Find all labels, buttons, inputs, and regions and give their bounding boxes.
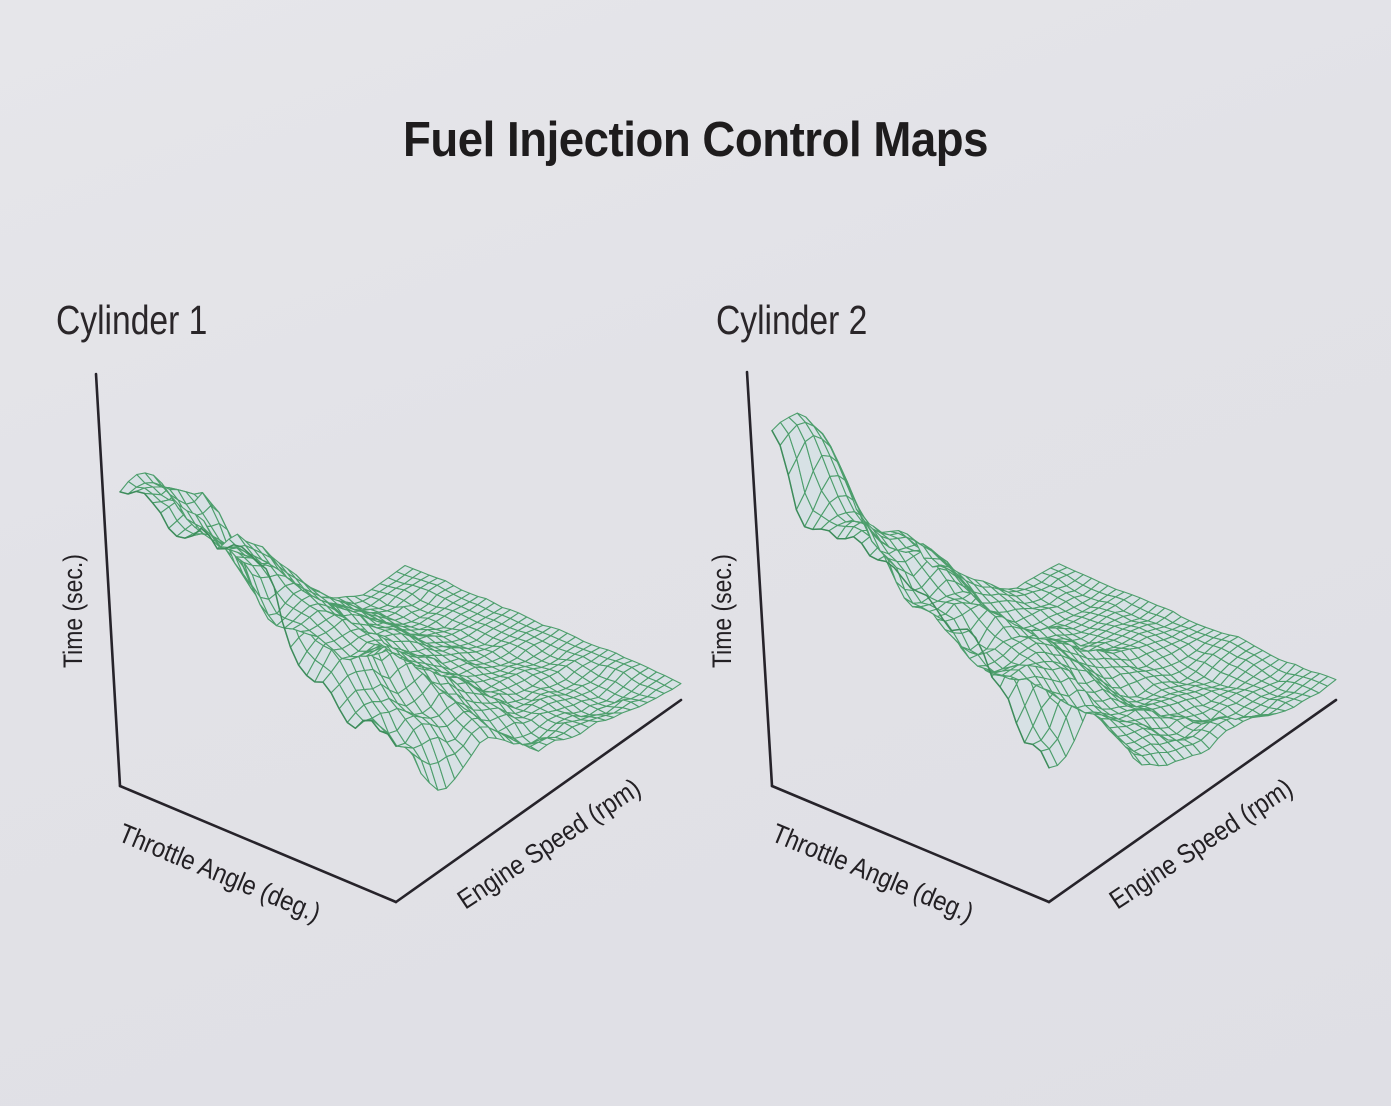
mesh-cell xyxy=(469,605,486,614)
mesh-cell xyxy=(1130,642,1147,648)
mesh-cell xyxy=(1102,713,1119,719)
mesh-cell xyxy=(440,686,457,702)
mesh-cell xyxy=(252,575,268,600)
mesh-cell xyxy=(1040,617,1057,627)
mesh-cell xyxy=(939,558,956,573)
mesh-cell xyxy=(1057,611,1074,619)
mesh-cell xyxy=(886,558,903,567)
mesh-cell xyxy=(1087,671,1104,686)
mesh-cell xyxy=(436,616,453,628)
mesh-cell xyxy=(522,744,539,752)
mesh-cell xyxy=(524,705,541,713)
mesh-cell xyxy=(365,669,382,688)
mesh-cell xyxy=(822,456,839,477)
mesh-cell xyxy=(310,596,327,606)
mesh-cell xyxy=(170,488,187,493)
mesh-cell xyxy=(408,654,425,660)
mesh-cell xyxy=(968,611,985,632)
mesh-cell xyxy=(252,586,269,613)
mesh-cell xyxy=(1252,716,1269,717)
mesh-cell xyxy=(473,713,490,727)
mesh-cell xyxy=(1303,672,1320,680)
mesh-cell xyxy=(343,617,360,626)
mesh-cell xyxy=(590,697,607,703)
mesh-cell xyxy=(136,488,153,494)
mesh-cell xyxy=(327,601,344,607)
mesh-cell xyxy=(1017,589,1034,594)
mesh-cell xyxy=(464,719,481,734)
mesh-cell xyxy=(355,595,372,601)
mesh-cell xyxy=(1057,619,1074,625)
mesh-cell xyxy=(376,632,393,643)
mesh-cell xyxy=(863,523,880,540)
mesh-cell xyxy=(614,708,631,713)
mesh-cell xyxy=(260,602,277,625)
mesh-cell xyxy=(856,506,873,532)
mesh-cell xyxy=(996,617,1013,628)
mesh-cell xyxy=(964,581,981,596)
mesh-cell xyxy=(1128,704,1145,707)
mesh-cell xyxy=(923,549,940,558)
mesh-cell xyxy=(1236,707,1253,717)
mesh-cell xyxy=(484,652,501,662)
mesh-cell xyxy=(375,640,392,652)
mesh-cell xyxy=(996,601,1013,615)
mesh-cell xyxy=(1145,700,1162,705)
mesh-cell xyxy=(992,585,1009,593)
mesh-cell xyxy=(516,680,533,690)
mesh-cell xyxy=(1221,664,1238,675)
mesh-cell xyxy=(1008,588,1025,591)
mesh-cell xyxy=(1129,666,1146,671)
mesh-cell xyxy=(506,736,523,745)
mesh-cell xyxy=(333,626,350,644)
mesh-cell xyxy=(468,640,485,647)
mesh-cell xyxy=(1058,602,1075,612)
mesh-cell xyxy=(1041,749,1058,768)
mesh-cell xyxy=(1069,678,1086,691)
mesh-cell xyxy=(1036,662,1053,670)
mesh-cell xyxy=(372,721,389,733)
mesh-cell xyxy=(1245,686,1262,692)
mesh-cell xyxy=(267,597,284,609)
mesh-cell xyxy=(1278,692,1295,697)
mesh-cell xyxy=(1005,613,1022,623)
mesh-cell xyxy=(307,640,324,660)
mesh-cell xyxy=(422,724,439,740)
mesh-cell xyxy=(359,642,376,651)
mesh-cell xyxy=(438,737,455,756)
mesh-cell xyxy=(1094,706,1111,715)
mesh-cell xyxy=(507,714,523,723)
mesh-cell xyxy=(1145,695,1162,700)
z-axis-label-cylinder-1: Time (sec.) xyxy=(58,554,89,668)
mesh-cell xyxy=(1278,681,1295,691)
mesh-cell xyxy=(389,699,406,712)
mesh-cell xyxy=(437,599,454,609)
mesh-cell xyxy=(1022,614,1039,629)
mesh-cell xyxy=(980,592,997,601)
mesh-cell xyxy=(460,648,477,653)
mesh-cell xyxy=(1062,656,1079,670)
mesh-cell xyxy=(1035,670,1052,685)
mesh-cell xyxy=(311,594,328,601)
mesh-cell xyxy=(952,596,969,611)
mesh-cell xyxy=(855,501,872,535)
mesh-cell xyxy=(1011,654,1028,665)
mesh-cell xyxy=(1038,629,1055,640)
mesh-cell xyxy=(253,566,270,578)
mesh-cell xyxy=(348,630,365,650)
mesh-cell xyxy=(1112,688,1129,698)
mesh-cell xyxy=(1271,659,1288,670)
mesh-cell xyxy=(990,609,1007,618)
mesh-cell xyxy=(1220,687,1237,691)
mesh-cell xyxy=(480,727,497,738)
mesh-cell xyxy=(292,604,309,622)
mesh-cell xyxy=(275,564,292,579)
mesh-cell xyxy=(965,583,982,601)
mesh-cell xyxy=(1007,609,1024,622)
mesh-cell xyxy=(916,542,933,559)
mesh-cell xyxy=(1021,629,1038,638)
mesh-cell xyxy=(464,704,481,713)
mesh-cell xyxy=(1229,667,1246,679)
mesh-cell xyxy=(1086,680,1103,693)
mesh-cell xyxy=(871,529,888,553)
mesh-cell xyxy=(961,637,978,661)
mesh-cell xyxy=(278,568,295,581)
mesh-cell xyxy=(441,670,458,684)
mesh-cell xyxy=(1035,685,1052,694)
mesh-cell xyxy=(772,422,789,445)
mesh-cell xyxy=(972,589,989,599)
mesh-cell xyxy=(1245,677,1262,686)
mesh-cell xyxy=(889,546,906,550)
mesh-cell xyxy=(1261,708,1278,715)
mesh-cell xyxy=(1074,612,1091,617)
mesh-cell xyxy=(235,549,252,586)
mesh-cell xyxy=(952,604,969,625)
mesh-cell xyxy=(1147,629,1164,635)
mesh-cell xyxy=(615,687,632,698)
mesh-cell xyxy=(413,754,430,783)
mesh-cell xyxy=(631,695,648,701)
mesh-cell xyxy=(904,598,921,607)
mesh-cell xyxy=(277,586,294,604)
mesh-cell xyxy=(1080,641,1097,652)
mesh-cell xyxy=(945,621,962,648)
mesh-cell xyxy=(396,584,413,590)
mesh-cell xyxy=(996,609,1013,620)
mesh-cell xyxy=(890,533,907,538)
mesh-cell xyxy=(955,576,972,589)
mesh-cell xyxy=(1081,642,1098,646)
mesh-cell xyxy=(331,660,348,684)
mesh-cell xyxy=(1089,636,1106,643)
mesh-cell xyxy=(1074,595,1091,603)
mesh-cell xyxy=(906,551,923,553)
mesh-cell xyxy=(292,616,309,628)
mesh-cell xyxy=(276,625,293,629)
mesh-cell xyxy=(467,676,484,683)
mesh-cell xyxy=(1031,633,1048,639)
mesh-cell xyxy=(572,724,589,734)
mesh-cell xyxy=(518,626,535,633)
mesh-cell xyxy=(234,545,251,547)
mesh-cell xyxy=(648,681,665,690)
mesh-cell xyxy=(506,735,523,743)
mesh-cell xyxy=(872,532,889,547)
mesh-cell xyxy=(380,586,397,594)
mesh-cell xyxy=(1146,676,1163,684)
mesh-cell xyxy=(493,647,510,658)
mesh-cell xyxy=(806,422,823,439)
mesh-cell xyxy=(364,720,381,723)
mesh-cell xyxy=(949,567,966,583)
mesh-cell xyxy=(402,631,419,640)
mesh-cell xyxy=(1028,663,1045,668)
mesh-cell xyxy=(420,591,437,604)
mesh-cell xyxy=(881,541,898,550)
mesh-cell xyxy=(543,636,560,645)
mesh-cell xyxy=(299,631,316,652)
mesh-cell xyxy=(953,630,970,658)
mesh-cell xyxy=(1053,646,1070,659)
mesh-cell xyxy=(374,641,391,661)
mesh-cell xyxy=(186,494,203,506)
mesh-cell xyxy=(1127,710,1144,720)
mesh-cell xyxy=(1139,625,1156,632)
mesh-cell xyxy=(1066,591,1083,598)
mesh-cell xyxy=(952,602,969,629)
mesh-cell xyxy=(946,599,963,604)
mesh-cell xyxy=(945,619,962,634)
mesh-cell xyxy=(983,587,1000,595)
mesh-cell xyxy=(1172,632,1189,641)
mesh-cell xyxy=(401,649,418,655)
mesh-cell xyxy=(277,575,294,586)
mesh-cell xyxy=(965,585,982,605)
mesh-cell xyxy=(863,523,880,551)
mesh-cell xyxy=(814,426,831,446)
mesh-cell xyxy=(987,617,1004,637)
mesh-cell xyxy=(1070,668,1087,684)
mesh-cell xyxy=(1062,651,1079,663)
mesh-cell xyxy=(1163,675,1180,683)
mesh-cell xyxy=(337,599,354,609)
mesh-cell xyxy=(1181,621,1198,629)
mesh-cell xyxy=(1211,703,1228,711)
mesh-cell xyxy=(1169,714,1186,718)
mesh-cell xyxy=(299,590,316,609)
mesh-cell xyxy=(486,603,503,613)
mesh-cell xyxy=(349,623,366,634)
mesh-cell xyxy=(928,592,945,613)
mesh-cell xyxy=(1138,666,1155,671)
mesh-cell xyxy=(931,551,948,562)
mesh-cell xyxy=(515,723,532,737)
mesh-cell xyxy=(309,635,326,644)
mesh-cell xyxy=(566,672,583,684)
mesh-cell xyxy=(845,527,862,539)
mesh-cell xyxy=(358,651,375,657)
mesh-cell xyxy=(354,606,371,611)
mesh-cell xyxy=(1025,640,1042,659)
mesh-cell xyxy=(1172,649,1189,662)
mesh-cell xyxy=(1178,710,1195,717)
mesh-cell xyxy=(457,683,474,694)
mesh-cell xyxy=(236,550,253,574)
mesh-cell xyxy=(227,538,244,568)
mesh-cell xyxy=(878,547,895,558)
mesh-cell xyxy=(447,719,464,739)
mesh-cell xyxy=(1026,664,1043,674)
mesh-cell xyxy=(245,552,262,564)
mesh-cell xyxy=(430,737,447,762)
mesh-cell xyxy=(387,619,404,625)
mesh-cell xyxy=(522,742,539,746)
mesh-cell xyxy=(396,735,413,756)
mesh-cell xyxy=(195,514,212,527)
mesh-cell xyxy=(204,521,221,544)
mesh-cell xyxy=(1078,663,1095,677)
mesh-cell xyxy=(220,540,237,557)
mesh-cell xyxy=(261,564,278,577)
mesh-cell xyxy=(948,566,965,585)
mesh-cell xyxy=(161,507,178,529)
mesh-cell xyxy=(442,661,459,669)
mesh-cell xyxy=(935,590,952,598)
mesh-cell xyxy=(1303,679,1320,689)
mesh-cell xyxy=(958,572,975,584)
mesh-cell xyxy=(236,551,253,558)
mesh-cell xyxy=(1238,651,1255,660)
mesh-cell xyxy=(390,669,407,693)
mesh-cell xyxy=(575,649,592,656)
mesh-cell xyxy=(1128,702,1145,707)
mesh-cell xyxy=(599,679,616,689)
mesh-cell xyxy=(1262,665,1279,676)
mesh-cell xyxy=(363,590,380,597)
mesh-cell xyxy=(948,565,965,580)
mesh-cell xyxy=(1026,649,1043,664)
mesh-cell xyxy=(1169,716,1186,720)
mesh-cell xyxy=(475,681,492,691)
mesh-cell xyxy=(564,721,581,727)
mesh-cell xyxy=(1028,643,1045,653)
mesh-cell xyxy=(1140,602,1157,613)
mesh-cell xyxy=(1003,647,1020,662)
mesh-cell xyxy=(830,476,847,497)
mesh-cell xyxy=(473,710,490,721)
mesh-cell xyxy=(1058,575,1075,586)
mesh-cell xyxy=(1157,608,1174,618)
mesh-cell xyxy=(780,434,797,475)
mesh-cell xyxy=(324,638,341,650)
mesh-cell xyxy=(463,734,480,756)
mesh-cell xyxy=(422,740,439,765)
mesh-cell xyxy=(351,619,368,629)
mesh-cell xyxy=(362,610,379,619)
mesh-cell xyxy=(1319,676,1336,686)
mesh-cell xyxy=(1035,676,1052,691)
mesh-cell xyxy=(1051,662,1068,671)
mesh-cell xyxy=(805,436,822,471)
mesh-cell xyxy=(1084,684,1101,699)
mesh-cell xyxy=(1180,636,1197,644)
mesh-cell xyxy=(981,596,998,612)
mesh-cell xyxy=(999,612,1016,623)
mesh-cell xyxy=(424,674,441,689)
mesh-cell xyxy=(229,547,246,552)
mesh-cell xyxy=(193,528,210,535)
mesh-cell xyxy=(839,463,856,501)
mesh-cell xyxy=(995,656,1012,669)
mesh-cell xyxy=(533,672,550,680)
mesh-cell xyxy=(1237,660,1254,672)
mesh-cell xyxy=(1136,710,1153,718)
mesh-cell xyxy=(607,661,624,669)
mesh-cell xyxy=(317,632,334,650)
mesh-cell xyxy=(994,667,1011,672)
mesh-cell xyxy=(993,646,1010,663)
mesh-cell xyxy=(1082,620,1099,628)
mesh-cell xyxy=(179,505,196,524)
mesh-cell xyxy=(364,702,381,719)
mesh-cell xyxy=(983,581,1000,589)
mesh-cell xyxy=(375,643,392,648)
mesh-cell xyxy=(416,648,433,663)
mesh-cell xyxy=(391,641,408,647)
mesh-cell xyxy=(1098,624,1115,631)
mesh-cell xyxy=(1106,626,1123,634)
mesh-cell xyxy=(408,646,425,658)
mesh-cell xyxy=(1162,694,1179,699)
mesh-cell xyxy=(421,575,438,583)
mesh-cell xyxy=(940,557,957,572)
mesh-cell xyxy=(1286,693,1303,699)
mesh-cell xyxy=(499,702,516,714)
mesh-cell xyxy=(242,547,258,555)
mesh-cell xyxy=(907,537,924,545)
mesh-cell xyxy=(338,601,355,607)
mesh-cell xyxy=(1055,636,1072,641)
mesh-cell xyxy=(323,650,340,672)
mesh-cell xyxy=(1066,597,1083,607)
mesh-cell xyxy=(624,661,641,668)
mesh-cell xyxy=(340,654,357,676)
mesh-cell xyxy=(320,598,337,606)
mesh-cell xyxy=(1177,727,1194,738)
mesh-cell xyxy=(347,713,364,729)
mesh-cell xyxy=(411,624,428,630)
mesh-cell xyxy=(328,602,345,608)
mesh-cell xyxy=(329,603,346,607)
mesh-cell xyxy=(1030,623,1047,635)
mesh-cell xyxy=(941,566,958,576)
mesh-cell xyxy=(293,629,310,635)
mesh-cell xyxy=(888,560,905,590)
mesh-cell xyxy=(1144,710,1161,718)
mesh-cell xyxy=(821,503,838,522)
mesh-cell xyxy=(1235,715,1252,717)
mesh-cell xyxy=(441,673,458,677)
mesh-cell xyxy=(1254,651,1271,660)
mesh-cell xyxy=(384,640,401,655)
mesh-cell xyxy=(1103,689,1120,701)
mesh-cell xyxy=(481,721,498,732)
